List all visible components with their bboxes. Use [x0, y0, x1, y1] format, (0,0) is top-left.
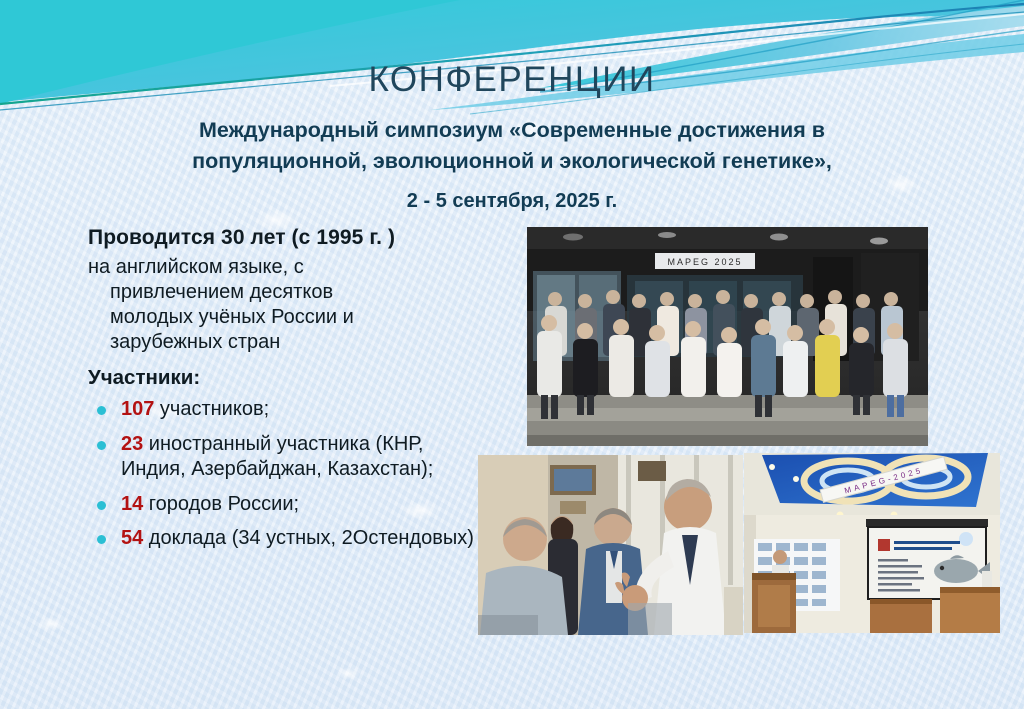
bullet-text: участников; — [154, 398, 269, 420]
paragraph-line-2: привлечением десятков — [88, 280, 488, 305]
subtitle-line-2: популяционной, эволюционной и экологичес… — [100, 146, 924, 177]
group-photo-image: MAPEG 2025 — [527, 227, 928, 446]
bullet-dot-icon — [97, 406, 106, 415]
discussion-photo-image — [478, 455, 743, 635]
list-item: 23 иностранный участника (КНР, Индия, Аз… — [88, 432, 488, 483]
group-photo: MAPEG 2025 — [527, 227, 928, 446]
list-item: 107 участников; — [88, 397, 488, 423]
slide-subtitle: Международный симпозиум «Современные дос… — [100, 115, 924, 177]
hall-photo: MAPEG-2025 — [744, 453, 1000, 633]
bullet-number: 14 — [121, 493, 143, 515]
bullet-dot-icon — [97, 535, 106, 544]
participants-list: 107 участников; 23 иностранный участника… — [88, 397, 488, 552]
bullet-text: городов России; — [143, 493, 299, 515]
presentation-slide: КОНФЕРЕНЦИИ Международный симпозиум «Сов… — [0, 0, 1024, 709]
svg-text:MAPEG 2025: MAPEG 2025 — [667, 257, 742, 267]
bullet-text: иностранный участника (КНР, Индия, Азерб… — [121, 433, 433, 481]
bullet-number: 54 — [121, 527, 143, 549]
description-paragraph: на английском языке, с привлечением деся… — [88, 255, 488, 355]
list-item: 14 городов России; — [88, 492, 488, 518]
paragraph-line-1: на английском языке, с — [88, 256, 304, 278]
paragraph-line-3: молодых учёных России и — [88, 305, 488, 330]
bullet-number: 23 — [121, 433, 143, 455]
subtitle-line-1: Международный симпозиум «Современные дос… — [100, 115, 924, 146]
slide-subtitle-date: 2 - 5 сентября, 2025 г. — [100, 190, 924, 213]
page-title: КОНФЕРЕНЦИИ — [0, 60, 1024, 100]
bullet-dot-icon — [97, 501, 106, 510]
list-item: 54 доклада (34 устных, 2Oстендовых) — [88, 526, 488, 552]
bullet-dot-icon — [97, 441, 106, 450]
bullet-text: доклада (34 устных, 2Oстендовых) — [143, 527, 474, 549]
discussion-photo — [478, 455, 743, 635]
participants-heading: Участники: — [88, 366, 488, 390]
paragraph-line-4: зарубежных стран — [88, 330, 488, 355]
left-text-column: Проводится 30 лет (с 1995 г. ) на англий… — [88, 224, 488, 561]
hall-photo-image: MAPEG-2025 — [744, 453, 1000, 633]
lead-line: Проводится 30 лет (с 1995 г. ) — [88, 224, 488, 252]
bullet-number: 107 — [121, 398, 154, 420]
